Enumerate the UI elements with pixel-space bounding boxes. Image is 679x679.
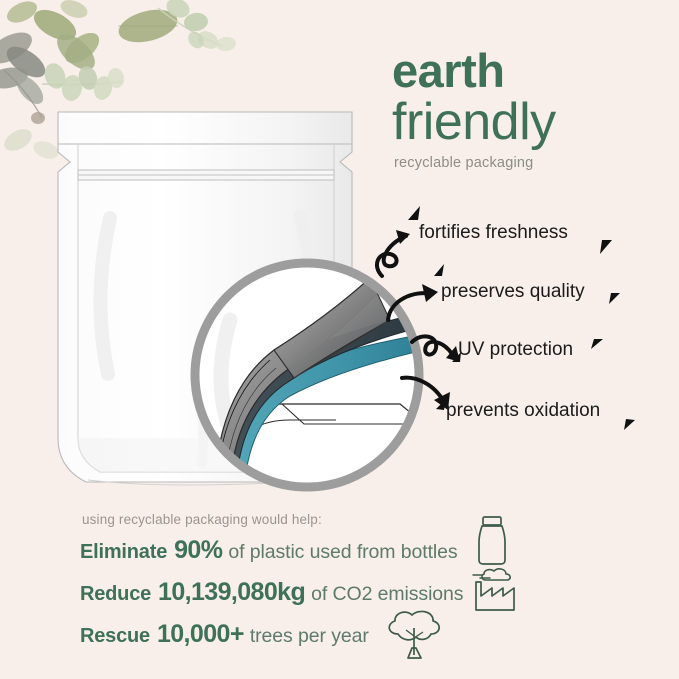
stat-tail: of CO2 emissions — [311, 583, 463, 606]
title-subtitle: recyclable packaging — [394, 155, 672, 171]
stat-value: 10,139,080kg — [158, 578, 305, 607]
earth-friendly-packaging-infographic: earth friendly recyclable packaging fort… — [0, 0, 679, 679]
page-title-block: earth friendly recyclable packaging — [392, 48, 672, 171]
tree-icon — [378, 608, 450, 668]
tick-spark-icon — [404, 204, 424, 224]
feature-label-uv-protection: UV protection — [458, 339, 573, 361]
feature-label-prevents-oxidation: prevents oxidation — [446, 400, 600, 422]
stat-row-eliminate: Eliminate 90% of plastic used from bottl… — [80, 536, 600, 565]
tick-spark-icon — [620, 416, 638, 434]
stats-intro-text: using recyclable packaging would help: — [82, 512, 600, 527]
stat-verb: Eliminate — [80, 541, 167, 564]
tick-spark-icon — [432, 262, 446, 278]
tick-spark-icon — [606, 290, 622, 306]
stat-verb: Reduce — [80, 583, 151, 606]
feature-label-preserves-quality: preserves quality — [441, 281, 585, 303]
factory-icon — [470, 566, 524, 614]
feature-label-fortifies-freshness: fortifies freshness — [419, 222, 568, 244]
title-line-earth: earth — [392, 48, 672, 94]
magnifier-layers-detail — [186, 254, 428, 496]
stat-tail: trees per year — [250, 625, 369, 648]
stat-tail: of plastic used from bottles — [228, 541, 457, 564]
title-line-friendly: friendly — [392, 96, 672, 149]
stat-verb: Rescue — [80, 625, 150, 648]
stat-value: 90% — [174, 536, 222, 565]
tick-spark-icon — [596, 236, 616, 256]
bottle-icon — [470, 514, 514, 568]
stat-value: 10,000+ — [157, 620, 244, 649]
stat-row-rescue: Rescue 10,000+ trees per year — [80, 620, 600, 649]
tick-spark-icon — [588, 336, 606, 354]
